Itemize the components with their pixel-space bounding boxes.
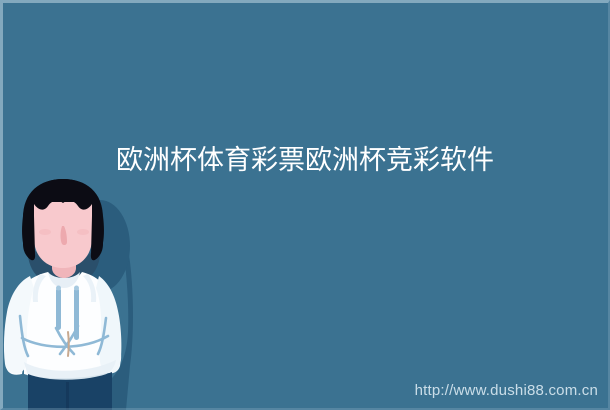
image-canvas: 欧洲杯体育彩票欧洲杯竞彩软件 http://www.dushi88.com.cn (0, 0, 610, 410)
drawstring-left (56, 288, 61, 330)
watermark-url: http://www.dushi88.com.cn (415, 382, 598, 400)
tie-detail (68, 332, 69, 356)
face (34, 202, 92, 268)
page-title: 欧洲杯体育彩票欧洲杯竞彩软件 (0, 142, 610, 178)
person-illustration (0, 176, 140, 410)
